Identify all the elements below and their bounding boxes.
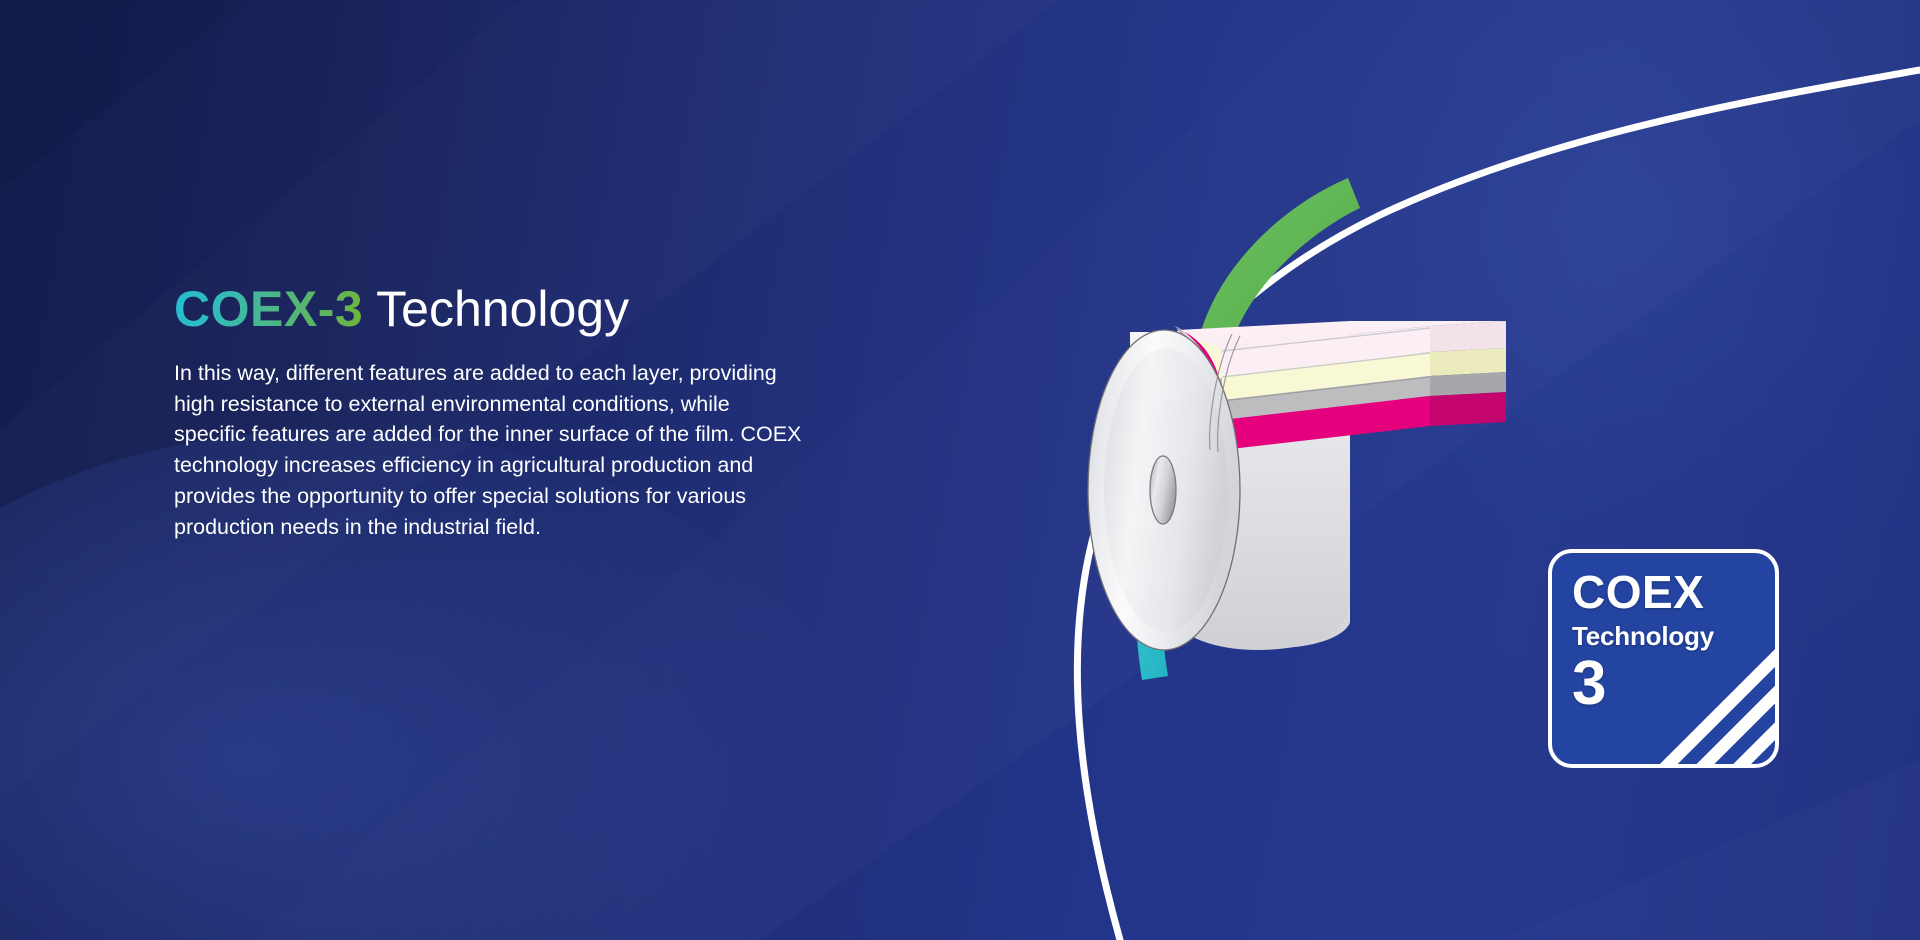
title-brand: COEX-3 <box>174 281 363 337</box>
text-column: COEX-3 Technology In this way, different… <box>174 282 834 542</box>
banner-canvas: COEX-3 Technology In this way, different… <box>0 0 1920 940</box>
badge-text-block: COEX Technology 3 <box>1552 553 1775 713</box>
badge-subtitle: Technology <box>1572 620 1775 653</box>
title-rest: Technology <box>363 281 629 337</box>
body-paragraph: In this way, different features are adde… <box>174 358 806 542</box>
badge-brand: COEX <box>1572 569 1775 615</box>
coex-technology-badge: COEX Technology 3 <box>1548 549 1779 768</box>
badge-number: 3 <box>1572 655 1775 714</box>
page-title: COEX-3 Technology <box>174 282 834 336</box>
badge-inner: COEX Technology 3 <box>1552 553 1775 764</box>
